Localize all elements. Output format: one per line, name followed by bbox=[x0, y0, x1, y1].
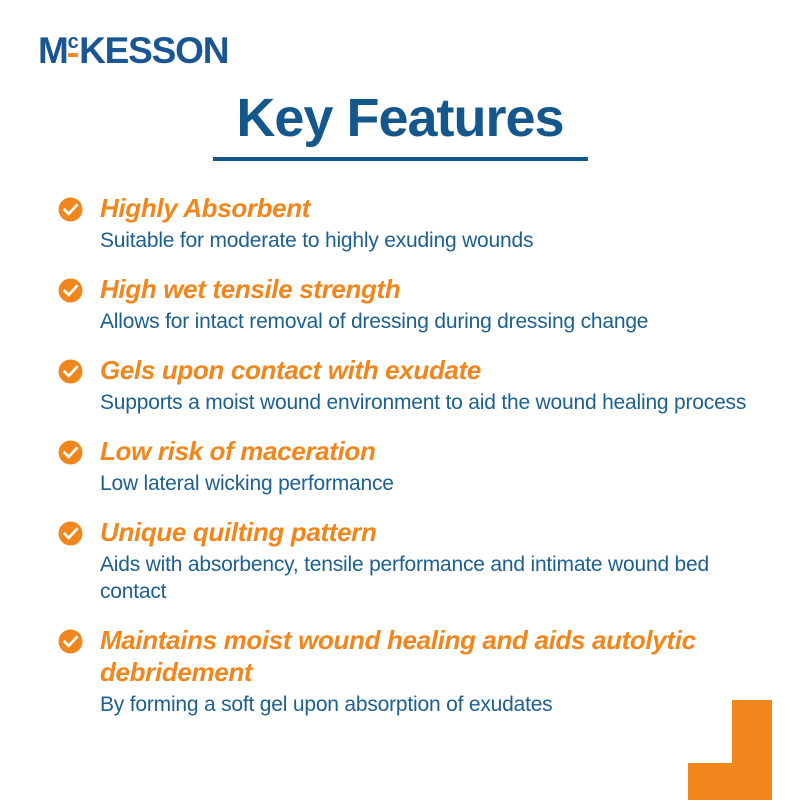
feature-list: Highly Absorbent Suitable for moderate t… bbox=[58, 192, 758, 718]
logo-superscript-c: c bbox=[68, 32, 79, 52]
check-circle-icon bbox=[58, 197, 83, 222]
feature-description: Aids with absorbency, tensile performanc… bbox=[100, 551, 758, 605]
feature-description: By forming a soft gel upon absorption of… bbox=[100, 691, 758, 718]
logo-orange-underline bbox=[68, 53, 79, 57]
key-features-page: M c KESSON Key Features Highly Absorbent… bbox=[0, 0, 800, 800]
check-circle-icon bbox=[58, 521, 83, 546]
mckesson-logo: M c KESSON bbox=[38, 32, 228, 76]
page-title-block: Key Features bbox=[0, 88, 800, 161]
feature-heading: Maintains moist wound healing and aids a… bbox=[100, 624, 700, 688]
page-title: Key Features bbox=[0, 88, 800, 148]
feature-heading: Low risk of maceration bbox=[100, 435, 700, 467]
feature-description: Allows for intact removal of dressing du… bbox=[100, 308, 758, 335]
feature-heading: Gels upon contact with exudate bbox=[100, 354, 700, 386]
list-item: Maintains moist wound healing and aids a… bbox=[58, 624, 758, 718]
feature-description: Suitable for moderate to highly exuding … bbox=[100, 227, 758, 254]
logo-superscript-c-group: c bbox=[68, 32, 79, 57]
feature-description: Low lateral wicking performance bbox=[100, 470, 758, 497]
check-circle-icon bbox=[58, 359, 83, 384]
check-circle-icon bbox=[58, 440, 83, 465]
check-circle-icon bbox=[58, 629, 83, 654]
list-item: Highly Absorbent Suitable for moderate t… bbox=[58, 192, 758, 254]
feature-heading: High wet tensile strength bbox=[100, 273, 700, 305]
list-item: Unique quilting pattern Aids with absorb… bbox=[58, 516, 758, 605]
list-item: Low risk of maceration Low lateral wicki… bbox=[58, 435, 758, 497]
logo-letter-m: M bbox=[38, 32, 68, 69]
list-item: High wet tensile strength Allows for int… bbox=[58, 273, 758, 335]
title-underline-rule bbox=[213, 157, 588, 161]
list-item: Gels upon contact with exudate Supports … bbox=[58, 354, 758, 416]
feature-description: Supports a moist wound environment to ai… bbox=[100, 389, 758, 416]
check-circle-icon bbox=[58, 278, 83, 303]
feature-heading: Highly Absorbent bbox=[100, 192, 700, 224]
feature-heading: Unique quilting pattern bbox=[100, 516, 700, 548]
logo-text-kesson: KESSON bbox=[79, 32, 228, 69]
